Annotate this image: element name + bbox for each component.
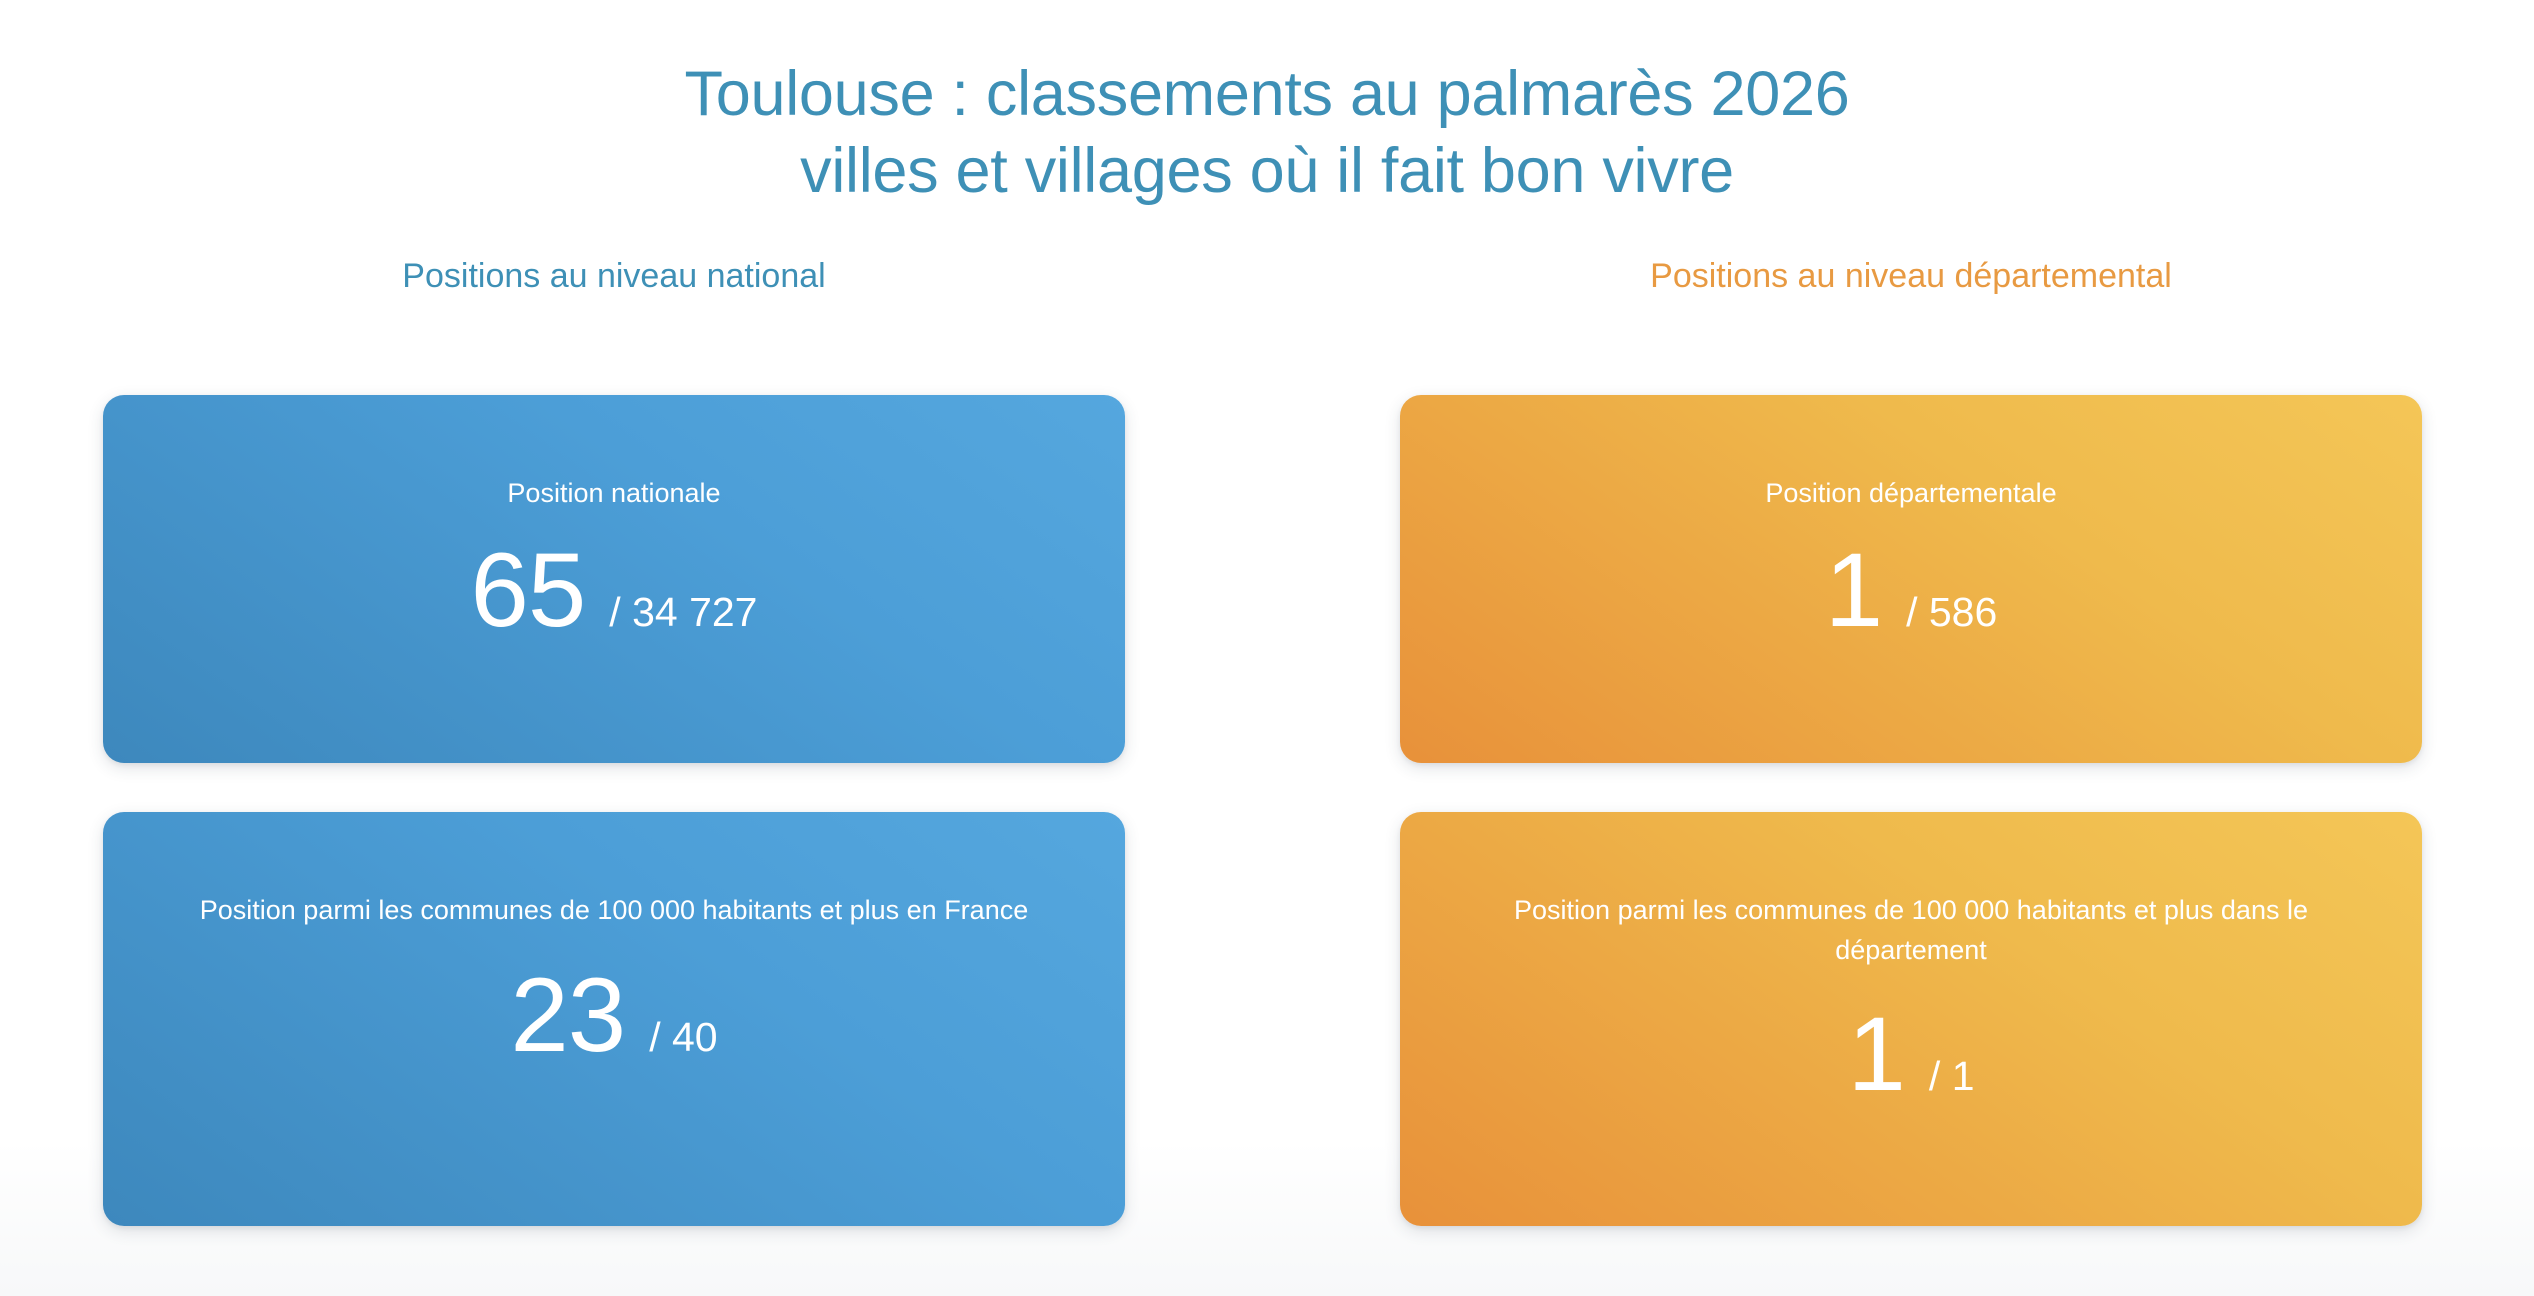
- card-total-value: / 586: [1906, 592, 1997, 633]
- card-label: Position départementale: [1721, 474, 2100, 514]
- rankings-columns: Positions au niveau national Position na…: [0, 0, 2534, 1296]
- card-value: 1 / 1: [1848, 1002, 1975, 1107]
- card-total-value: / 1: [1929, 1056, 1975, 1097]
- card-label: Position parmi les communes de 100 000 h…: [1400, 891, 2422, 970]
- card-position-grandes-communes-france: Position parmi les communes de 100 000 h…: [103, 812, 1125, 1226]
- card-value: 1 / 586: [1825, 538, 1998, 643]
- card-total-value: / 40: [649, 1017, 717, 1058]
- card-rank-value: 23: [510, 963, 625, 1068]
- card-rank-value: 1: [1825, 538, 1882, 643]
- card-value: 65 / 34 727: [471, 538, 758, 643]
- card-position-grandes-communes-departement: Position parmi les communes de 100 000 h…: [1400, 812, 2422, 1226]
- card-position-nationale: Position nationale 65 / 34 727: [103, 395, 1125, 763]
- ranking-summary-page: Toulouse : classements au palmarès 2026 …: [0, 0, 2534, 1296]
- card-rank-value: 65: [471, 538, 586, 643]
- column-heading-departemental: Positions au niveau départemental: [1400, 256, 2422, 297]
- column-heading-national: Positions au niveau national: [103, 256, 1125, 297]
- card-total-value: / 34 727: [609, 592, 757, 633]
- card-rank-value: 1: [1848, 1002, 1905, 1107]
- card-label: Position parmi les communes de 100 000 h…: [156, 891, 1072, 931]
- card-value: 23 / 40: [510, 963, 717, 1068]
- card-position-departementale: Position départementale 1 / 586: [1400, 395, 2422, 763]
- card-label: Position nationale: [463, 474, 764, 514]
